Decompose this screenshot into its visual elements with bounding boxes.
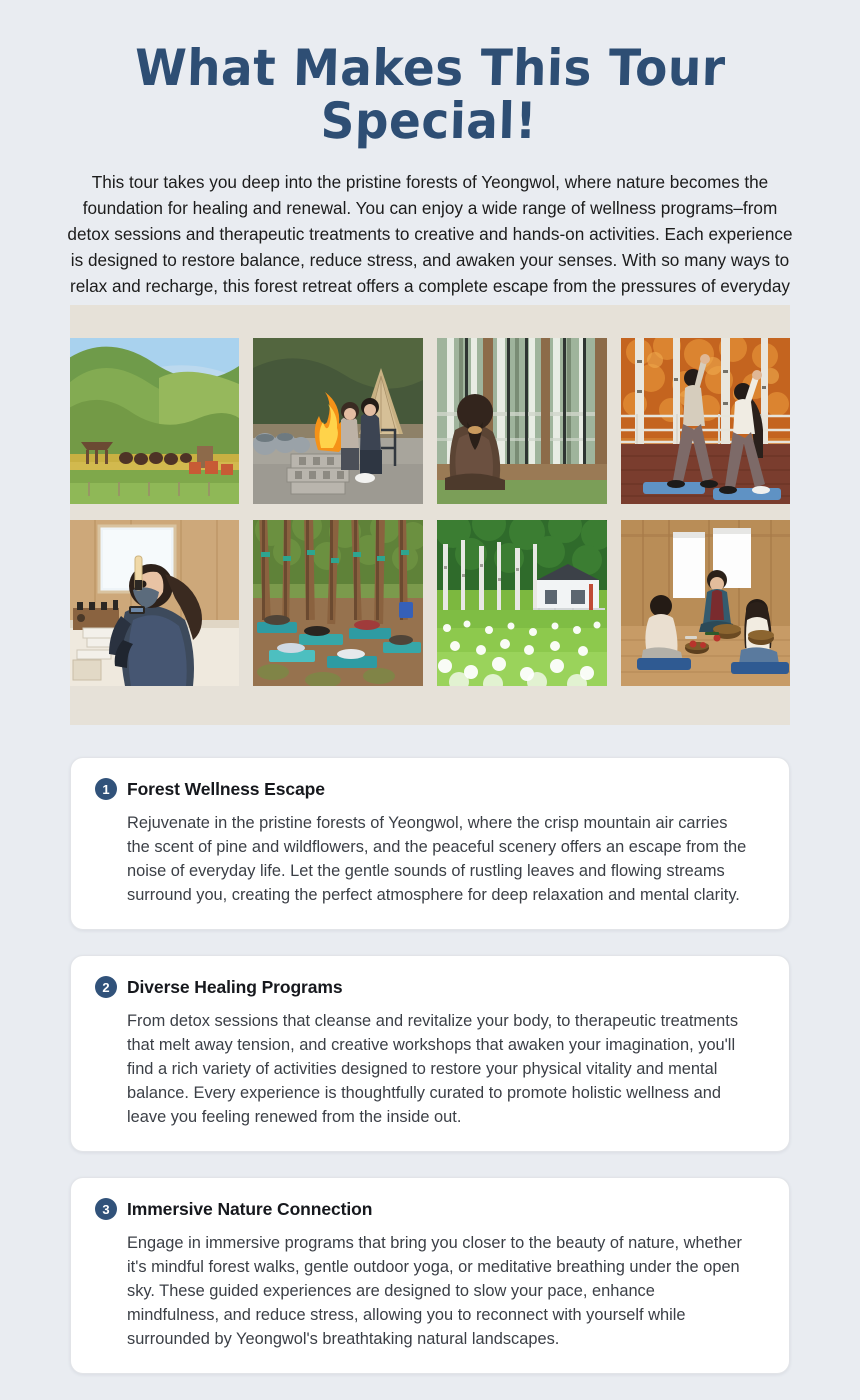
gallery-image-bonfire[interactable] [253, 338, 423, 504]
feature-card-3-title: Immersive Nature Connection [127, 1199, 372, 1220]
sound-bowl-illustration [621, 520, 790, 686]
gallery-image-forest-mats[interactable] [253, 520, 423, 686]
gallery-image-sound-bowl[interactable] [621, 520, 790, 686]
gallery-image-wildflower-field[interactable] [437, 520, 607, 686]
forest-mats-illustration [253, 520, 423, 686]
bonfire-illustration [253, 338, 423, 504]
gallery-image-window-meditation[interactable] [437, 338, 607, 504]
feature-number-badge-2: 2 [95, 976, 117, 998]
feature-card-2-title: Diverse Healing Programs [127, 977, 342, 998]
outdoor-yoga-illustration [621, 338, 790, 504]
photo-gallery-grid [70, 338, 790, 686]
feature-card-3: 3 Immersive Nature Connection Engage in … [70, 1177, 790, 1374]
craft-workshop-illustration [70, 520, 239, 686]
feature-card-2: 2 Diverse Healing Programs From detox se… [70, 955, 790, 1152]
feature-card-1-header: 1 Forest Wellness Escape [95, 778, 765, 800]
feature-number-badge-3: 3 [95, 1198, 117, 1220]
feature-card-1: 1 Forest Wellness Escape Rejuvenate in t… [70, 757, 790, 930]
feature-cards-list: 1 Forest Wellness Escape Rejuvenate in t… [70, 757, 790, 1399]
feature-card-3-header: 3 Immersive Nature Connection [95, 1198, 765, 1220]
feature-card-1-title: Forest Wellness Escape [127, 779, 325, 800]
gallery-image-craft-workshop[interactable] [70, 520, 239, 686]
feature-card-3-body: Engage in immersive programs that bring … [95, 1231, 765, 1351]
gallery-image-mountain-jars[interactable] [70, 338, 239, 504]
mountain-jars-illustration [70, 338, 239, 504]
feature-card-2-body: From detox sessions that cleanse and rev… [95, 1009, 765, 1129]
window-meditation-illustration [437, 338, 607, 504]
person-left [341, 402, 359, 470]
wildflower-field-illustration [437, 520, 607, 686]
feature-number-badge-1: 1 [95, 778, 117, 800]
feature-card-1-body: Rejuvenate in the pristine forests of Ye… [95, 811, 765, 907]
gallery-image-outdoor-yoga[interactable] [621, 338, 790, 504]
photo-gallery-panel [70, 305, 790, 725]
page-title: What Makes This Tour Special! [24, 0, 836, 147]
intro-paragraph: This tour takes you deep into the pristi… [65, 169, 795, 325]
page-root: What Makes This Tour Special! This tour … [0, 0, 860, 1400]
feature-card-2-header: 2 Diverse Healing Programs [95, 976, 765, 998]
